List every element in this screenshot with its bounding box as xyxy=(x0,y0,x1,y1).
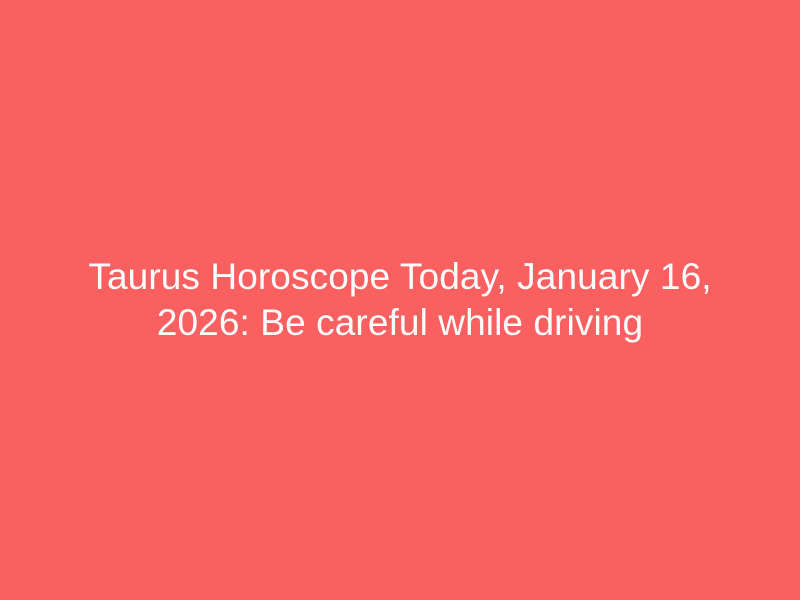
headline-block: Taurus Horoscope Today, January 16, 2026… xyxy=(40,254,760,346)
placeholder-card: Taurus Horoscope Today, January 16, 2026… xyxy=(0,0,800,600)
page-title: Taurus Horoscope Today, January 16, 2026… xyxy=(40,254,760,346)
